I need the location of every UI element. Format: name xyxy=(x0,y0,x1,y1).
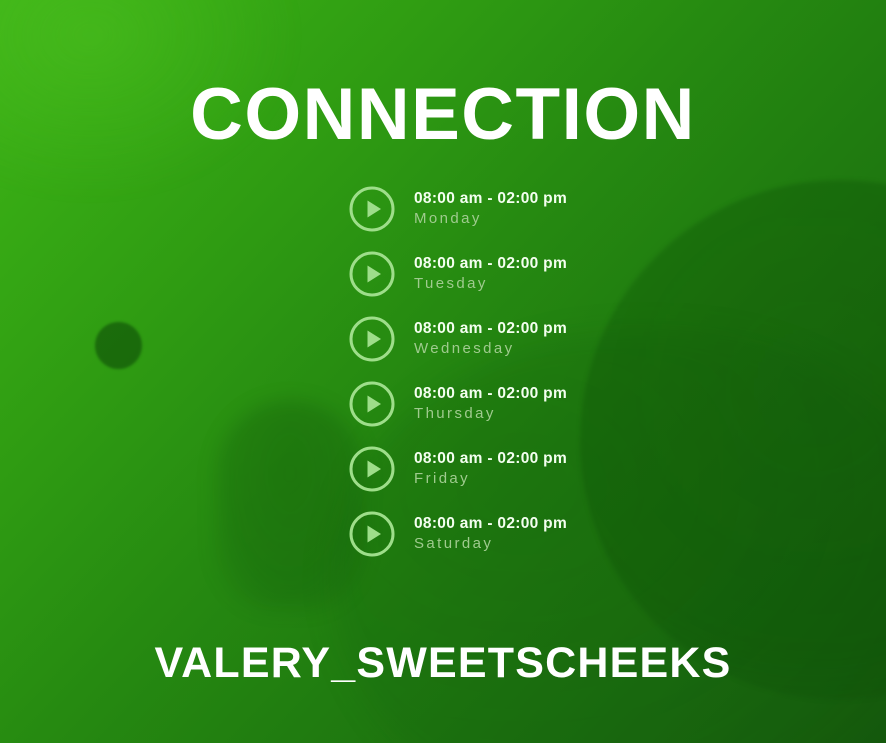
schedule-list: 08:00 am - 02:00 pm Monday 08:00 am - 02… xyxy=(0,176,886,566)
schedule-poster: CONNECTION 08:00 am - 02:00 pm Monday xyxy=(0,0,886,743)
play-circle-icon[interactable] xyxy=(348,315,396,363)
play-circle-icon[interactable] xyxy=(348,185,396,233)
play-circle-icon[interactable] xyxy=(348,445,396,493)
schedule-time: 08:00 am - 02:00 pm xyxy=(414,191,567,207)
list-item[interactable]: 08:00 am - 02:00 pm Friday xyxy=(0,436,886,501)
page-title: CONNECTION xyxy=(0,78,886,151)
schedule-day: Saturday xyxy=(414,536,567,551)
username-title: VALERY_SWEETSCHEEKS xyxy=(0,642,886,685)
play-circle-icon[interactable] xyxy=(348,380,396,428)
schedule-day: Tuesday xyxy=(414,276,567,291)
play-circle-icon[interactable] xyxy=(348,250,396,298)
list-item[interactable]: 08:00 am - 02:00 pm Wednesday xyxy=(0,306,886,371)
schedule-time: 08:00 am - 02:00 pm xyxy=(414,321,567,337)
schedule-day: Friday xyxy=(414,471,567,486)
schedule-time: 08:00 am - 02:00 pm xyxy=(414,516,567,532)
schedule-time: 08:00 am - 02:00 pm xyxy=(414,451,567,467)
schedule-day: Wednesday xyxy=(414,341,567,356)
schedule-day: Monday xyxy=(414,211,567,226)
schedule-time: 08:00 am - 02:00 pm xyxy=(414,256,567,272)
list-item[interactable]: 08:00 am - 02:00 pm Monday xyxy=(0,176,886,241)
schedule-time: 08:00 am - 02:00 pm xyxy=(414,386,567,402)
list-item[interactable]: 08:00 am - 02:00 pm Saturday xyxy=(0,501,886,566)
play-circle-icon[interactable] xyxy=(348,510,396,558)
schedule-day: Thursday xyxy=(414,406,567,421)
list-item[interactable]: 08:00 am - 02:00 pm Thursday xyxy=(0,371,886,436)
list-item[interactable]: 08:00 am - 02:00 pm Tuesday xyxy=(0,241,886,306)
